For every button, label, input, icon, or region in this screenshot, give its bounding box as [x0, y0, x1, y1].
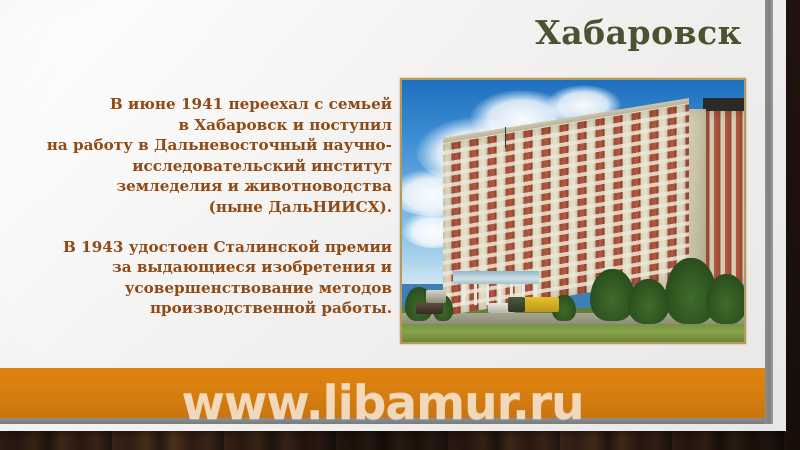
photo-tree: [590, 269, 634, 321]
photo-vehicle-left: [416, 303, 443, 315]
body-line: в Хабаровск и поступил: [14, 115, 392, 136]
frame-rule-right: [765, 0, 773, 424]
body-line: В июне 1941 переехал с семьей: [14, 94, 392, 115]
body-line: усовершенствование методов: [14, 278, 392, 299]
photo-building-wing: [703, 111, 744, 284]
paragraph-spacer: [14, 218, 392, 237]
body-text-block: В июне 1941 переехал с семьей в Хабаровс…: [14, 94, 392, 319]
slide-root: Хабаровск В июне 1941 переехал с семьей …: [0, 0, 800, 450]
body-line: производственной работы.: [14, 298, 392, 319]
body-line: (ныне ДальНИИСХ).: [14, 197, 392, 218]
photo-signboard: [426, 290, 447, 303]
photo-inner: [402, 80, 744, 342]
body-line: исследовательский институт: [14, 156, 392, 177]
page-title: Хабаровск: [535, 14, 742, 52]
footer-rule: [0, 418, 765, 424]
photo-antenna: [505, 127, 506, 148]
body-line: за выдающиеся изобретения и: [14, 257, 392, 278]
photo-vehicle-truck-yellow: [522, 297, 560, 311]
footer-accent-band: [0, 368, 765, 418]
photo-tree: [706, 274, 744, 324]
body-line: на работу в Дальневосточный научно-: [14, 135, 392, 156]
photo-tree: [628, 279, 669, 324]
body-line: земледелия и животноводства: [14, 176, 392, 197]
photo-vehicle-dark: [508, 297, 525, 311]
photo-entrance-canopy: [453, 271, 539, 284]
institute-building-photo: [400, 78, 746, 344]
body-line: В 1943 удостоен Сталинской премии: [14, 237, 392, 258]
